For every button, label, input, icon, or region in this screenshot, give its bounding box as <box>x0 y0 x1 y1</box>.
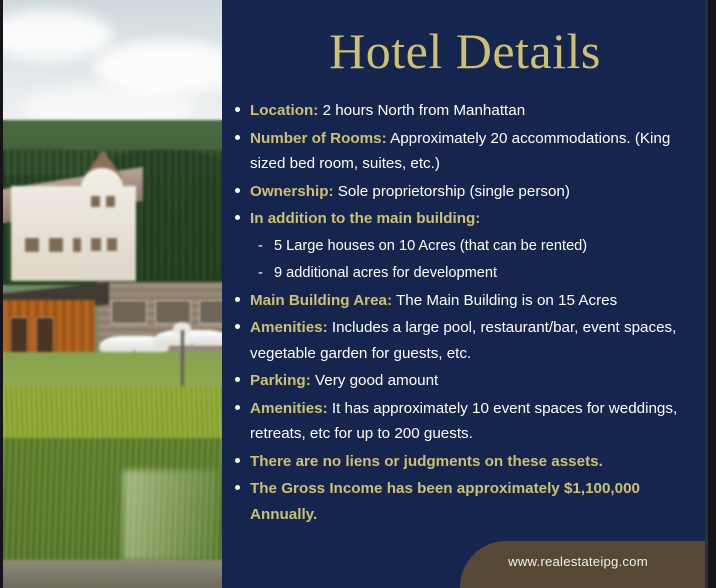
list-item-label: Location: <box>250 102 318 119</box>
list-item-label: In addition to the main building: <box>250 210 480 227</box>
chalet-tower <box>81 168 123 278</box>
details-bullet-list: Location: 2 hours North from Manhattan N… <box>228 98 704 529</box>
window-shape <box>107 238 117 251</box>
content-panel: Hotel Details Location: 2 hours North fr… <box>222 0 708 588</box>
list-item: Parking: Very good amount <box>228 368 704 394</box>
water-reflection <box>123 470 218 560</box>
footer-banner: www.realestateipg.com <box>460 541 712 588</box>
list-item: Number of Rooms: Approximately 20 accomm… <box>228 126 704 177</box>
list-item: Main Building Area: The Main Building is… <box>228 288 704 314</box>
bullet-dot-icon <box>235 297 240 302</box>
sub-list-item-text: 5 Large houses on 10 Acres (that can be … <box>274 238 587 254</box>
bullet-dot-icon <box>235 324 240 329</box>
dash-marker-icon: - <box>258 261 263 286</box>
shore-layer <box>3 560 222 588</box>
left-edge-border <box>0 0 3 588</box>
list-item-text: 2 hours North from Manhattan <box>318 102 525 119</box>
sub-list-item-text: 9 additional acres for development <box>274 265 497 281</box>
window-shape <box>155 300 191 324</box>
hotel-details-slide: Hotel Details Location: 2 hours North fr… <box>0 0 716 588</box>
list-item: Amenities: Includes a large pool, restau… <box>228 315 704 366</box>
window-shape <box>106 196 115 207</box>
list-item: Ownership: Sole proprietorship (single p… <box>228 179 704 205</box>
window-shape <box>25 238 39 252</box>
door-shape <box>37 318 53 352</box>
list-item-label: Parking: <box>250 372 311 389</box>
bullet-dot-icon <box>235 107 240 112</box>
list-item: Location: 2 hours North from Manhattan <box>228 98 704 124</box>
list-item-text: Sole proprietorship (single person) <box>334 183 570 200</box>
bullet-dot-icon <box>235 377 240 382</box>
bullet-dot-icon <box>235 215 240 220</box>
sub-list-item: -9 additional acres for development <box>228 261 704 286</box>
bullet-dot-icon <box>235 458 240 463</box>
list-item-text: The Main Building is on 15 Acres <box>392 292 617 309</box>
bullet-dot-icon <box>235 188 240 193</box>
window-shape <box>91 196 100 207</box>
page-title: Hotel Details <box>222 26 708 76</box>
list-item-label: Ownership: <box>250 183 334 200</box>
sub-list-item: -5 Large houses on 10 Acres (that can be… <box>228 234 704 259</box>
list-item: In addition to the main building: <box>228 206 704 232</box>
hotel-photo <box>3 0 222 588</box>
list-item-label: Amenities: <box>250 319 328 336</box>
list-item-text: Very good amount <box>311 372 439 389</box>
website-url[interactable]: www.realestateipg.com <box>460 554 696 569</box>
dash-marker-icon: - <box>258 234 263 259</box>
list-item-label: There are no liens or judgments on these… <box>250 453 603 470</box>
bullet-dot-icon <box>235 485 240 490</box>
bullet-dot-icon <box>235 405 240 410</box>
window-shape <box>111 300 147 324</box>
list-item-label: Amenities: <box>250 400 328 417</box>
list-item-label: The Gross Income has been approximately … <box>250 480 640 523</box>
list-item-label: Number of Rooms: <box>250 130 387 147</box>
bullet-dot-icon <box>235 135 240 140</box>
window-shape <box>91 238 101 251</box>
door-shape <box>11 318 27 352</box>
window-shape <box>49 238 63 252</box>
right-edge-border <box>708 0 716 588</box>
list-item-label: Main Building Area: <box>250 292 392 309</box>
list-item-highlight: The Gross Income has been approximately … <box>228 476 704 527</box>
list-item: Amenities: It has approximately 10 event… <box>228 396 704 447</box>
list-item-highlight: There are no liens or judgments on these… <box>228 449 704 475</box>
window-shape <box>199 300 222 324</box>
